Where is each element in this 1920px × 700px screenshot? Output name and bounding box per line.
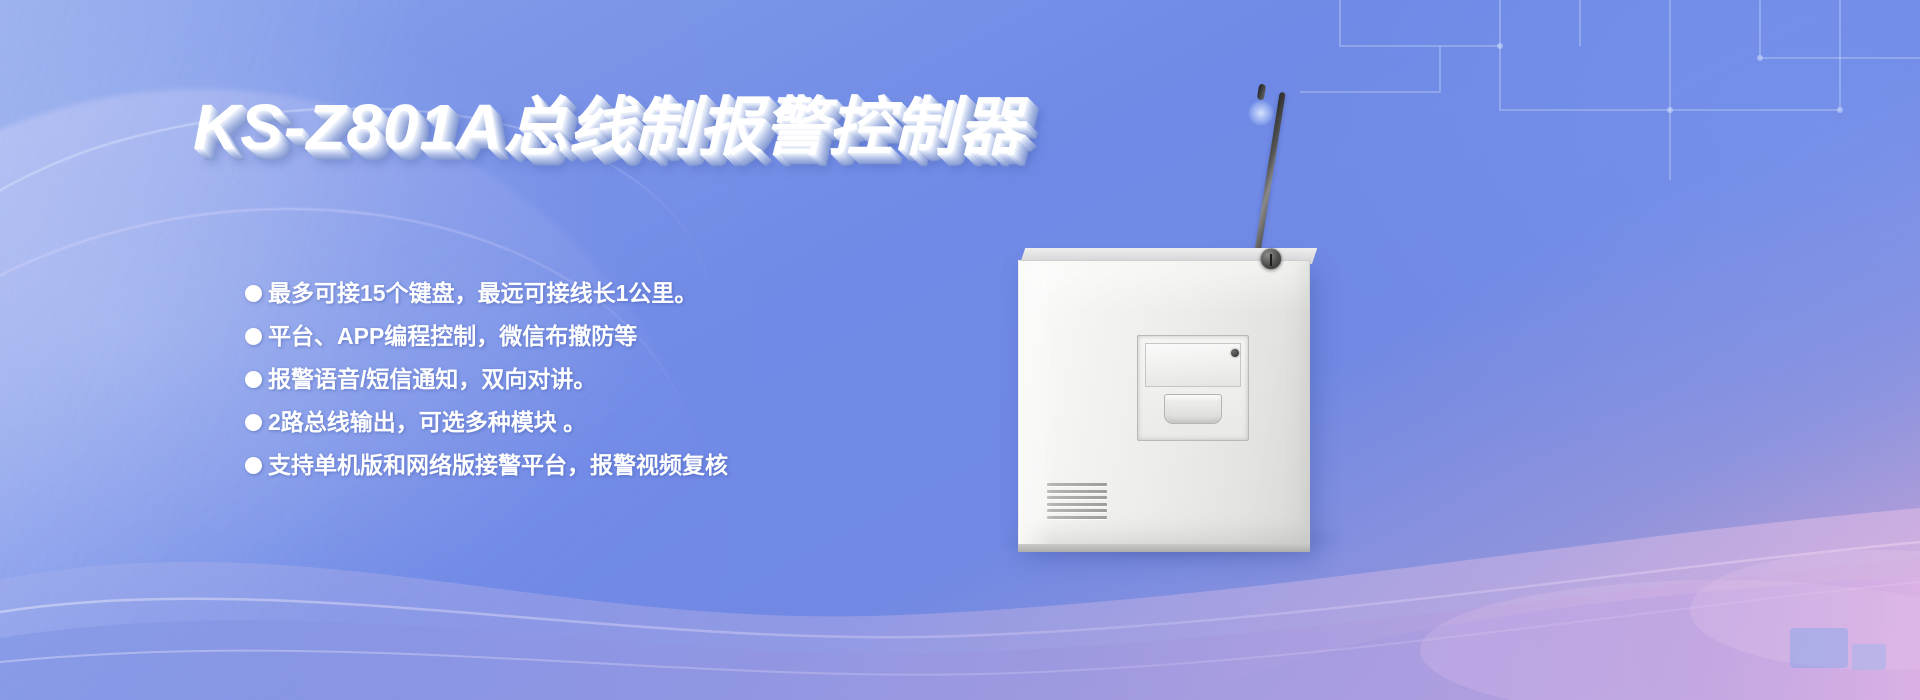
lock-cylinder-icon bbox=[1260, 248, 1282, 270]
feature-list: 最多可接15个键盘，最远可接线长1公里。 平台、APP编程控制，微信布撤防等 报… bbox=[245, 282, 945, 497]
ventilation-slots bbox=[1047, 483, 1107, 519]
indicator-led-icon bbox=[1231, 349, 1239, 357]
list-item: 支持单机版和网络版接警平台，报警视频复核 bbox=[245, 454, 945, 477]
feature-text: 报警语音/短信通知，双向对讲。 bbox=[268, 368, 596, 391]
list-item: 2路总线输出，可选多种模块 。 bbox=[245, 411, 945, 434]
bullet-icon bbox=[245, 414, 262, 431]
product-banner: KS-Z801A总线制报警控制器 最多可接15个键盘，最远可接线长1公里。 平台… bbox=[0, 0, 1920, 700]
antenna-tip bbox=[1257, 84, 1266, 101]
page-title: KS-Z801A总线制报警控制器 bbox=[193, 76, 1023, 168]
display-window bbox=[1137, 335, 1249, 441]
feature-text: 平台、APP编程控制，微信布撤防等 bbox=[268, 325, 637, 348]
enclosure-bottom-edge bbox=[1018, 544, 1310, 552]
feature-text: 最多可接15个键盘，最远可接线长1公里。 bbox=[268, 282, 697, 305]
list-item: 最多可接15个键盘，最远可接线长1公里。 bbox=[245, 282, 945, 305]
display-screen bbox=[1145, 343, 1241, 387]
feature-text: 2路总线输出，可选多种模块 。 bbox=[268, 411, 586, 434]
list-item: 平台、APP编程控制，微信布撤防等 bbox=[245, 325, 945, 348]
enclosure-front-door bbox=[1018, 260, 1310, 550]
bullet-icon bbox=[245, 328, 262, 345]
feature-text: 支持单机版和网络版接警平台，报警视频复核 bbox=[268, 454, 728, 477]
bullet-icon bbox=[245, 457, 262, 474]
list-item: 报警语音/短信通知，双向对讲。 bbox=[245, 368, 945, 391]
bullet-icon bbox=[245, 371, 262, 388]
bullet-icon bbox=[245, 285, 262, 302]
door-handle bbox=[1164, 394, 1222, 424]
product-image-alarm-control-panel bbox=[1010, 70, 1430, 630]
